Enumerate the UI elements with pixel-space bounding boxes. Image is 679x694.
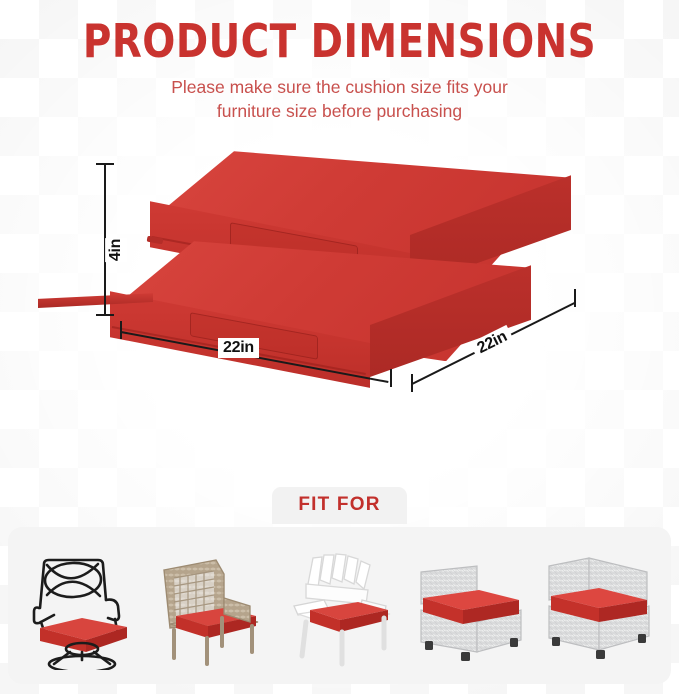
fit-for-panel (8, 527, 671, 684)
page-title: PRODUCT DIMENSIONS (20, 18, 658, 64)
dimension-height-tick-bottom (96, 314, 114, 316)
header: PRODUCT DIMENSIONS Please make sure the … (0, 0, 679, 123)
dimension-width-label: 22in (218, 338, 259, 358)
dimension-width-tick-right (390, 369, 392, 387)
fit-item-adirondack-chair[interactable] (278, 546, 400, 670)
fit-item-sectional-corner[interactable] (539, 546, 661, 670)
page-subtitle: Please make sure the cushion size fits y… (0, 76, 679, 123)
fit-item-sectional-armless[interactable] (409, 546, 531, 670)
fit-for-badge-label: FIT FOR (272, 487, 406, 524)
fit-for-banner: FIT FOR (0, 487, 679, 524)
dimension-height-label: 4in (105, 238, 127, 262)
subtitle-line-1: Please make sure the cushion size fits y… (171, 77, 508, 97)
dimension-width-tick-left (120, 321, 122, 339)
dimension-depth-tick-upper (574, 289, 576, 307)
dimension-height-tick-top (96, 163, 114, 165)
fit-item-wicker-armchair[interactable] (148, 546, 270, 670)
dimension-depth-tick-lower (411, 374, 413, 392)
subtitle-line-2: furniture size before purchasing (217, 101, 462, 121)
fit-for-item-list (8, 527, 671, 684)
product-illustration: 4in 22in 22in (0, 141, 679, 451)
swivel-chair-cushion (40, 618, 127, 652)
fit-item-swivel-chair[interactable] (18, 546, 140, 670)
